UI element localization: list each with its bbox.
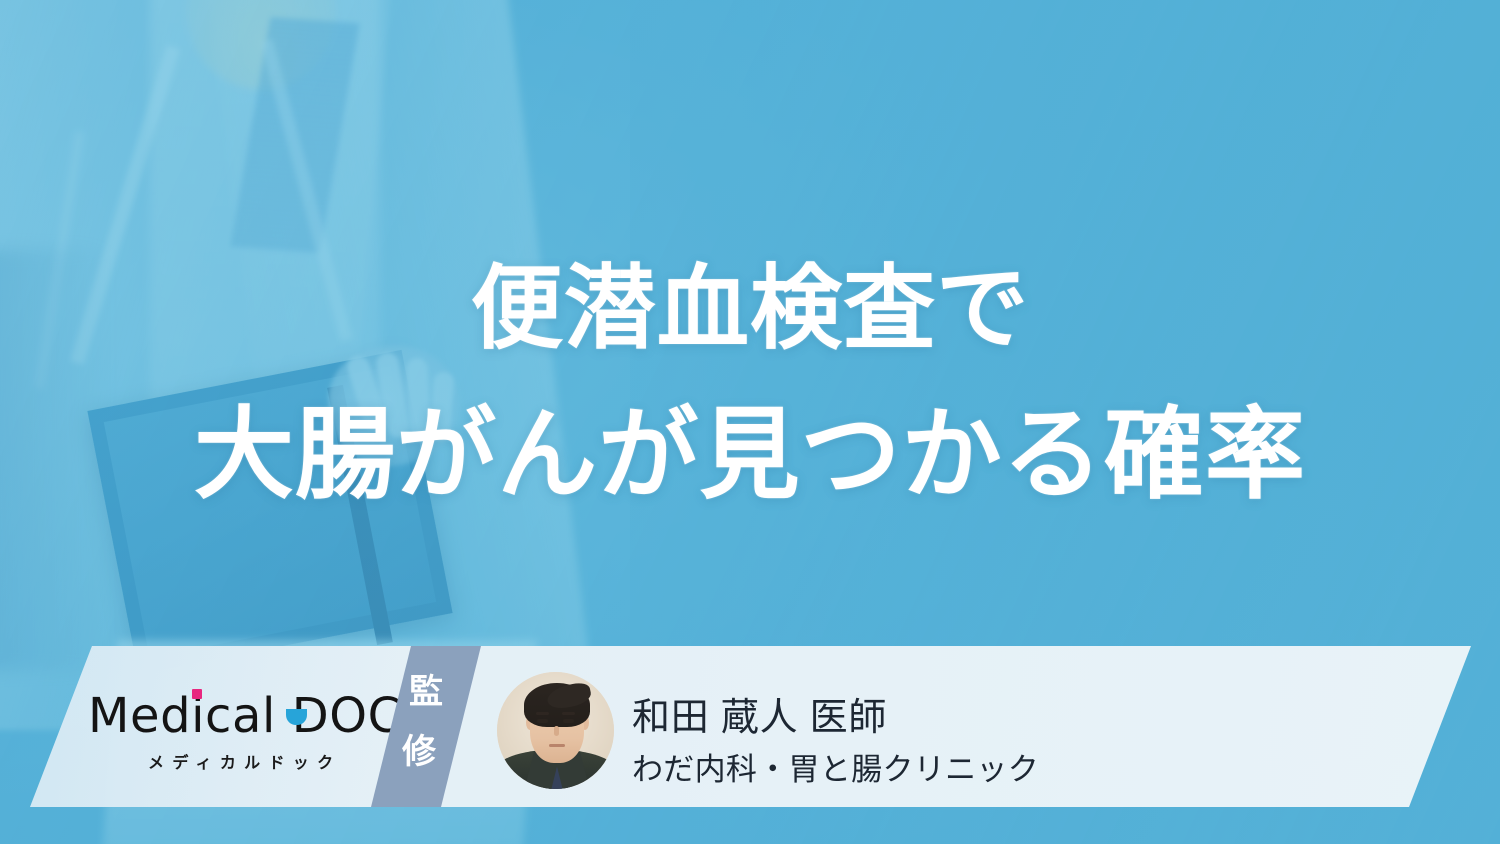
brand-logo[interactable]: Medical DOC メディカルドック [88,692,388,773]
avatar-nose [554,726,559,736]
supervision-label: 監 修 [394,662,458,782]
avatar-eyebrow-right [562,712,575,715]
supervision-label-char-1: 監 [394,662,458,722]
doctor-avatar [497,672,614,789]
avatar-eye-left [537,719,548,723]
page-title: 便潜血検査で 大腸がんが見つかる確率 [0,236,1500,528]
logo-i-dot-icon [192,689,202,699]
logo-wordmark-text: Medical DOC [88,688,402,744]
doctor-clinic: わだ内科・胃と腸クリニック [632,744,1039,789]
thumbnail-canvas: 便潜血検査で 大腸がんが見つかる確率 Medical DOC メディカルドック … [0,0,1500,844]
title-line-1: 便潜血検査で [0,236,1500,382]
doctor-name: 和田 蔵人 医師 [632,686,887,741]
avatar-mouth [549,744,565,747]
logo-wordmark: Medical DOC [88,692,388,740]
logo-kana-subtitle: メディカルドック [148,749,388,773]
avatar-eye-right [563,719,574,723]
supervision-label-char-2: 修 [380,722,458,782]
title-line-2: 大腸がんが見つかる確率 [0,382,1500,528]
avatar-eyebrow-left [536,712,549,715]
